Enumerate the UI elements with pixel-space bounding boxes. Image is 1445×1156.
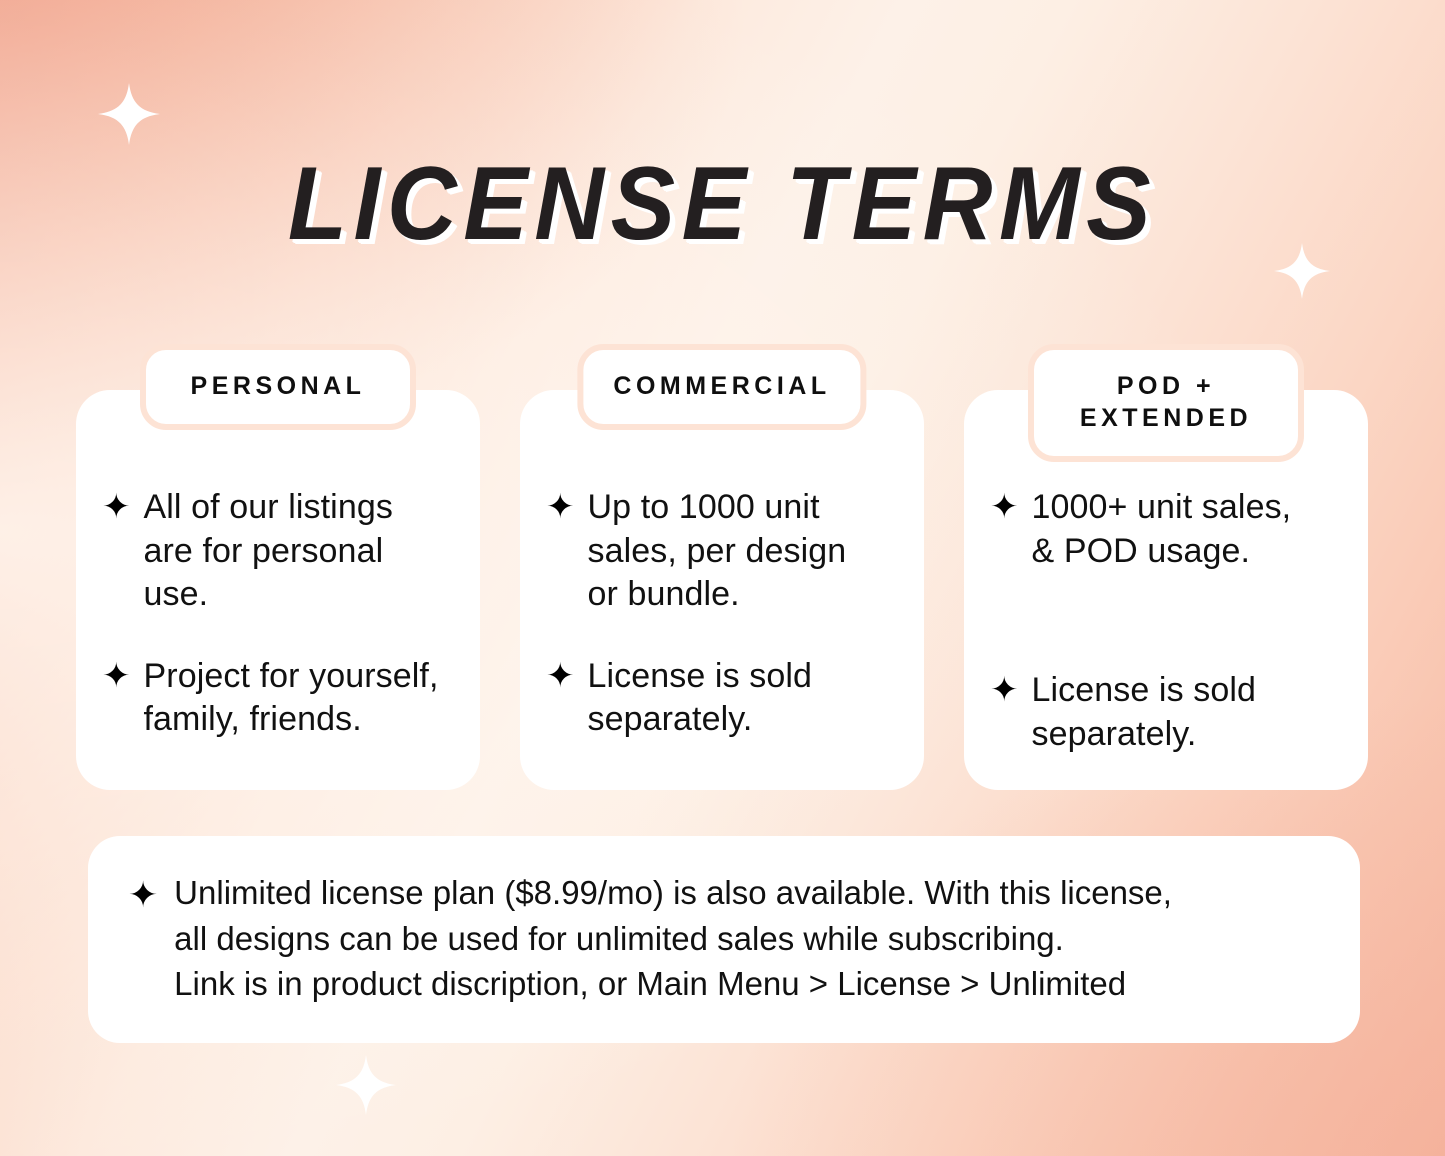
list-item: ✦ License is sold separately.	[546, 655, 898, 742]
sparkle-icon	[98, 83, 160, 145]
list-item-text: License is sold separately.	[1032, 669, 1257, 756]
plan-benefits-list: ✦ Up to 1000 unit sales, per design or b…	[546, 486, 898, 742]
plan-header-pill-personal: PERSONAL	[140, 344, 416, 430]
page-title: LICENSE TERMS	[51, 152, 1395, 256]
list-item-text: License is sold separately.	[588, 655, 813, 742]
plan-header-label: POD + EXTENDED	[1064, 370, 1268, 434]
sparkle-bullet-icon: ✦	[102, 656, 131, 696]
plan-benefits-list: ✦ All of our listings are for personal u…	[102, 486, 454, 742]
plan-header-label: PERSONAL	[176, 370, 380, 402]
sparkle-bullet-icon: ✦	[990, 670, 1019, 710]
sparkle-bullet-icon: ✦	[102, 487, 131, 527]
sparkle-bullet-icon: ✦	[128, 874, 158, 916]
list-item-text: Project for yourself, family, friends.	[144, 655, 439, 742]
list-item-text: Up to 1000 unit sales, per design or bun…	[588, 486, 847, 617]
sparkle-icon	[336, 1055, 396, 1115]
plan-header-pill-commercial: COMMERCIAL	[577, 344, 866, 430]
sparkle-bullet-icon: ✦	[546, 656, 575, 696]
plan-card-personal[interactable]: PERSONAL ✦ All of our listings are for p…	[76, 390, 480, 790]
plan-card-pod-extended[interactable]: POD + EXTENDED ✦ 1000+ unit sales, & POD…	[964, 390, 1368, 790]
plan-benefits-list: ✦ 1000+ unit sales, & POD usage. ✦ Licen…	[990, 486, 1342, 756]
sparkle-bullet-icon: ✦	[990, 487, 1019, 527]
plan-card-commercial[interactable]: COMMERCIAL ✦ Up to 1000 unit sales, per …	[520, 390, 924, 790]
list-item-text: All of our listings are for personal use…	[144, 486, 393, 617]
unlimited-plan-banner[interactable]: ✦ Unlimited license plan ($8.99/mo) is a…	[88, 836, 1360, 1043]
list-spacer	[990, 611, 1342, 669]
plan-header-label: COMMERCIAL	[613, 370, 830, 402]
list-item: ✦ Project for yourself, family, friends.	[102, 655, 454, 742]
list-item-text: 1000+ unit sales, & POD usage.	[1032, 486, 1292, 573]
unlimited-plan-banner-text: Unlimited license plan ($8.99/mo) is als…	[174, 870, 1172, 1007]
list-item: ✦ License is sold separately.	[990, 669, 1342, 756]
list-item: ✦ 1000+ unit sales, & POD usage.	[990, 486, 1342, 573]
plan-header-pill-pod-extended: POD + EXTENDED	[1028, 344, 1304, 462]
sparkle-bullet-icon: ✦	[546, 487, 575, 527]
plan-cards-row: PERSONAL ✦ All of our listings are for p…	[76, 390, 1369, 790]
list-item: ✦ All of our listings are for personal u…	[102, 486, 454, 617]
list-item: ✦ Up to 1000 unit sales, per design or b…	[546, 486, 898, 617]
